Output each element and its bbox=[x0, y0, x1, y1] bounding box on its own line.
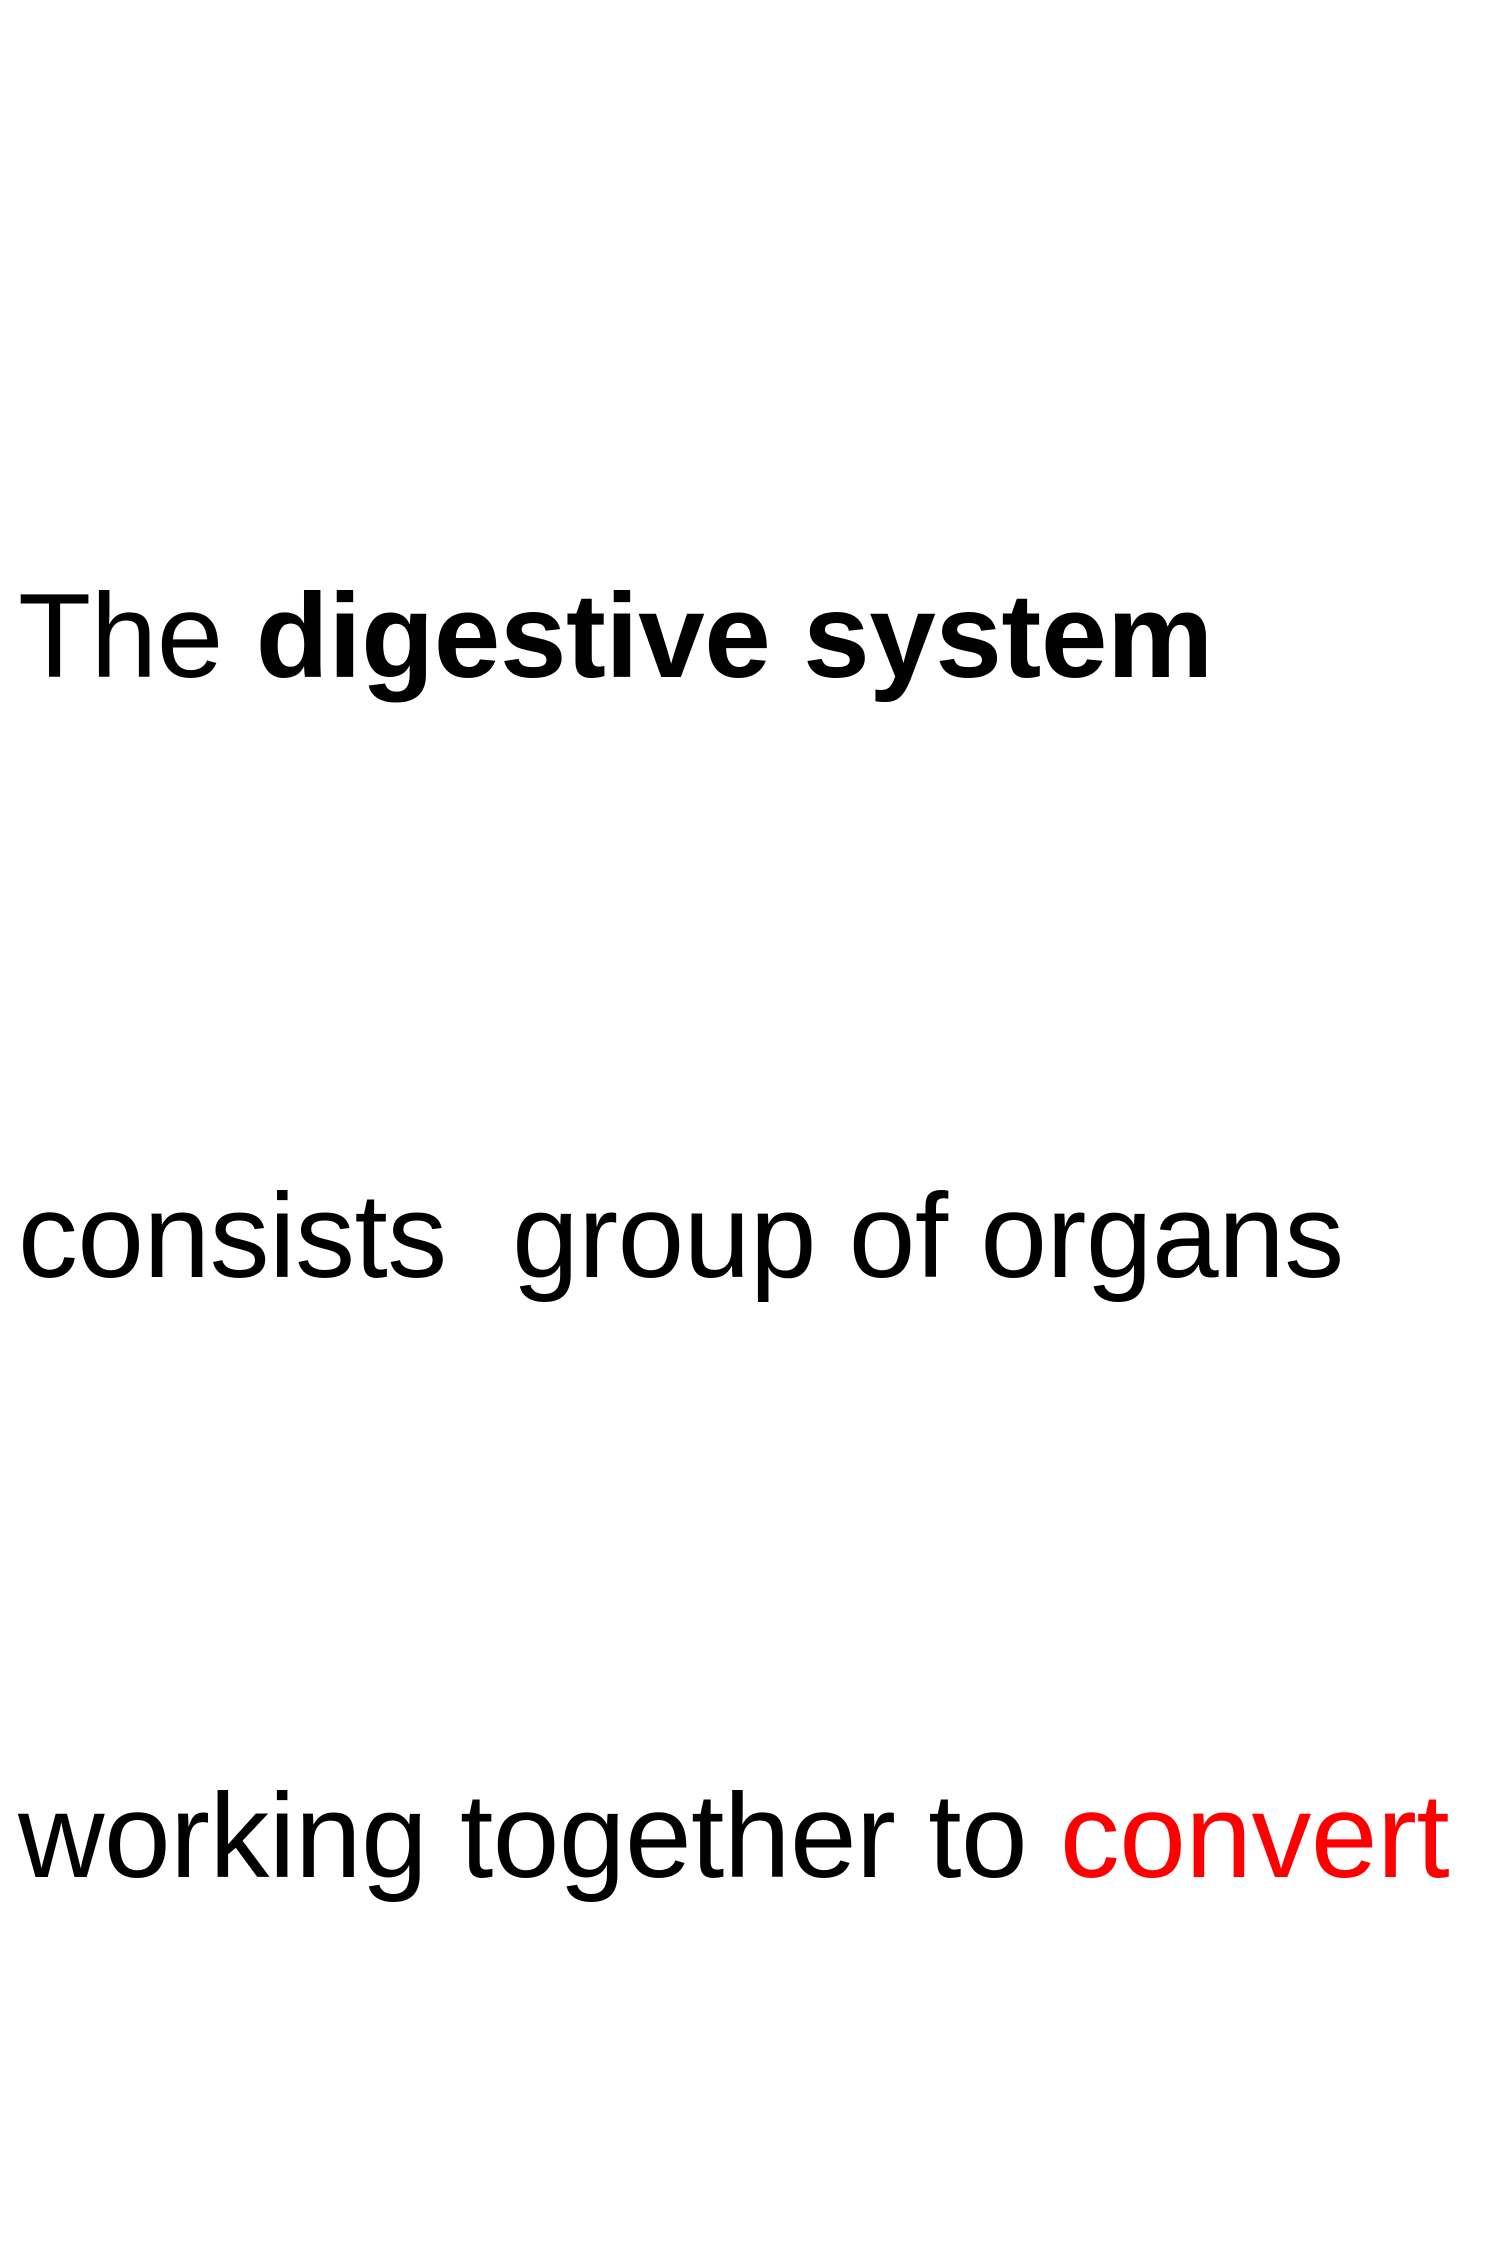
text-run-working-together-to: working together to bbox=[18, 1770, 1060, 1903]
slide-canvas: The digestive system consists group of o… bbox=[0, 0, 1500, 1125]
text-line-2: consists group of organs bbox=[18, 1162, 1488, 1312]
text-line-3: working together to convert bbox=[18, 1762, 1488, 1912]
text-run-convert: convert bbox=[1060, 1770, 1449, 1903]
text-run-consists-group-of-organs: consists group of organs bbox=[18, 1170, 1344, 1303]
text-line-1: The digestive system bbox=[18, 562, 1488, 712]
text-run-the: The bbox=[18, 570, 256, 703]
slide-body-text: The digestive system consists group of o… bbox=[18, 112, 1488, 2250]
text-run-digestive-system: digestive system bbox=[256, 570, 1213, 703]
